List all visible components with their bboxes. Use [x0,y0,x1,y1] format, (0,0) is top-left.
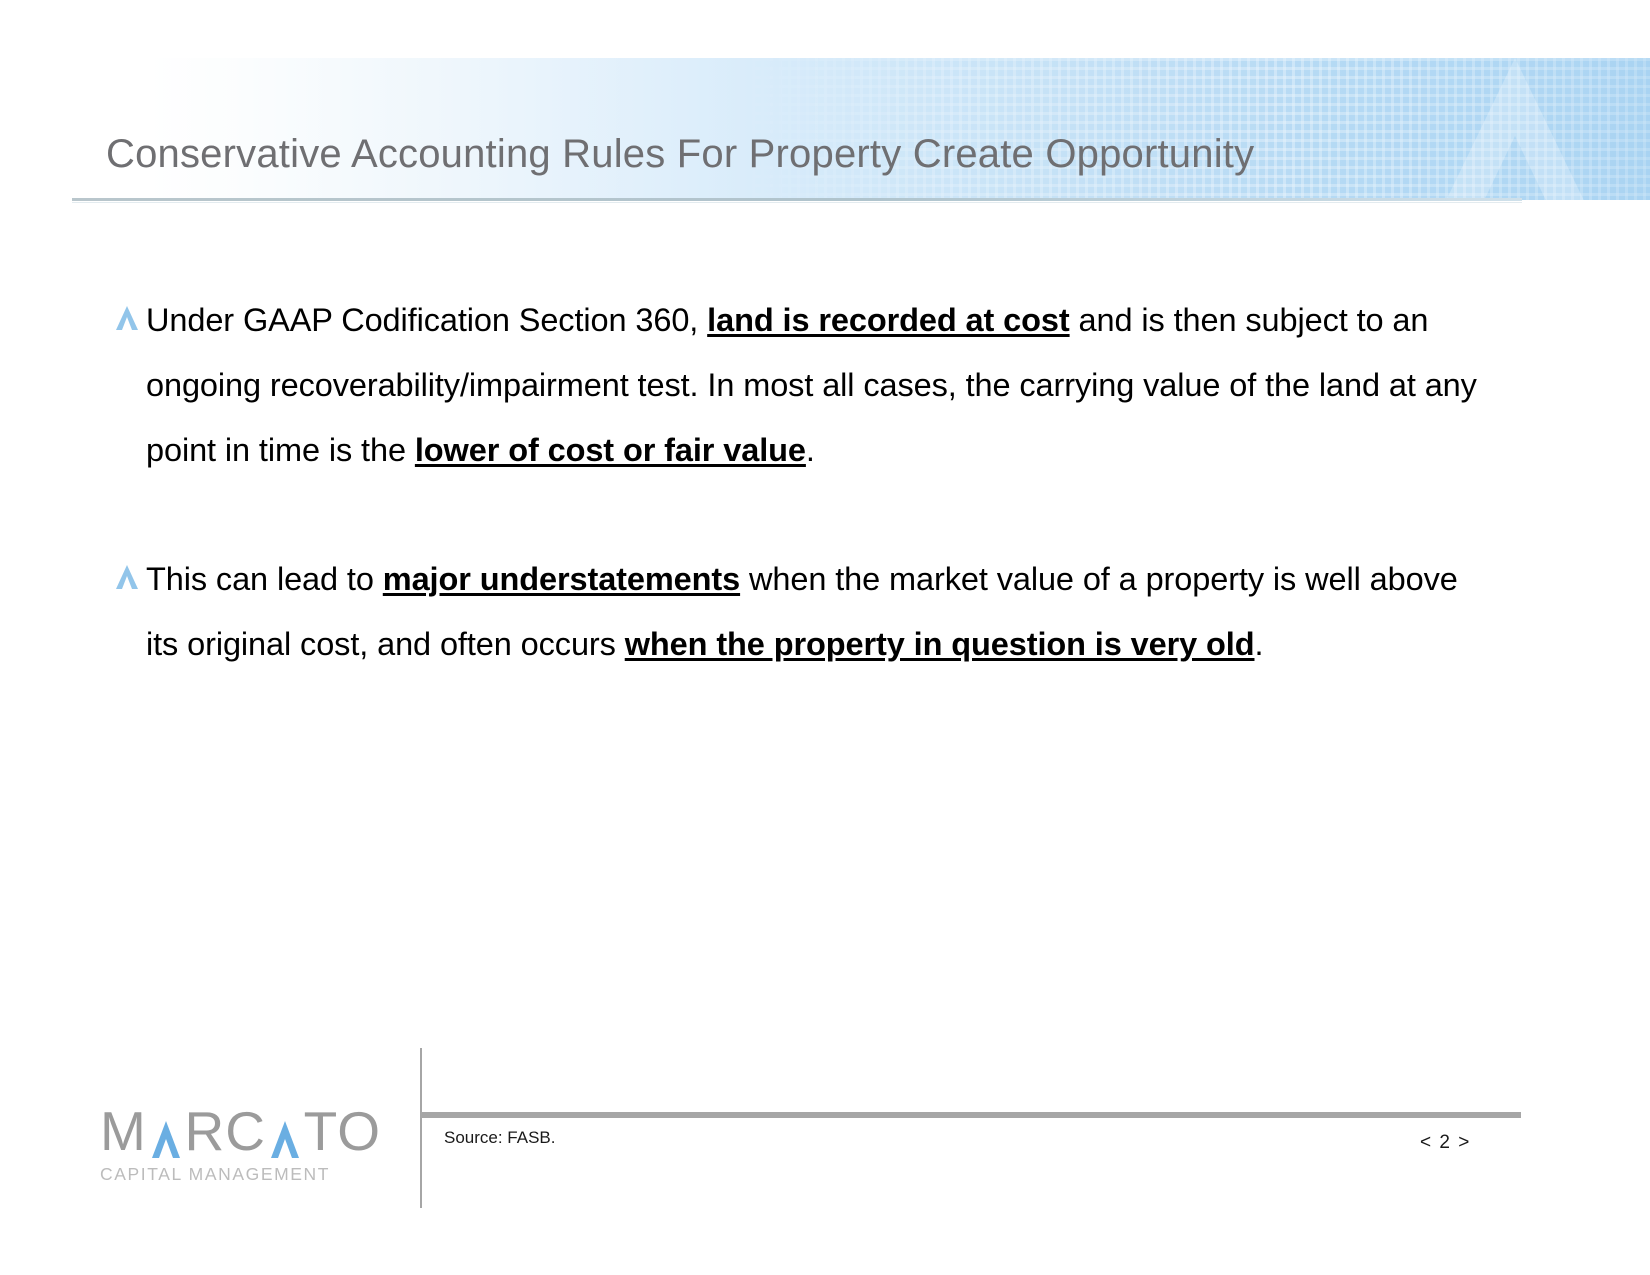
slide-header-banner [0,58,1650,200]
page-number: < 2 > [1420,1132,1471,1154]
chevron-up-bullet-icon [116,563,138,589]
logo-wordmark: MARCATO [100,1102,400,1160]
slide: Conservative Accounting Rules For Proper… [0,0,1650,1275]
header-divider-rule-secondary [72,202,1522,203]
logo-chevron-icon: A [266,1102,304,1160]
header-chevron-decoration [1440,58,1590,200]
bullet-text-1: Under GAAP Codification Section 360, lan… [146,288,1480,483]
slide-footer: MARCATO CAPITAL MANAGEMENT Source: FASB.… [0,1040,1650,1275]
footer-vertical-divider [420,1048,422,1208]
bullet-block: Under GAAP Codification Section 360, lan… [0,288,1650,483]
bullet-text-2: This can lead to major understatements w… [146,547,1480,677]
header-divider-rule [72,198,1522,201]
logo-tagline: CAPITAL MANAGEMENT [100,1164,400,1185]
source-note: Source: FASB. [444,1128,556,1148]
slide-body: Under GAAP Codification Section 360, lan… [0,288,1650,741]
marcato-logo: MARCATO CAPITAL MANAGEMENT [100,1102,400,1185]
page-title: Conservative Accounting Rules For Proper… [106,132,1254,177]
chevron-up-bullet-icon [116,304,138,330]
footer-horizontal-rule [421,1112,1521,1118]
bullet-block: This can lead to major understatements w… [0,547,1650,677]
logo-chevron-icon: A [147,1102,185,1160]
